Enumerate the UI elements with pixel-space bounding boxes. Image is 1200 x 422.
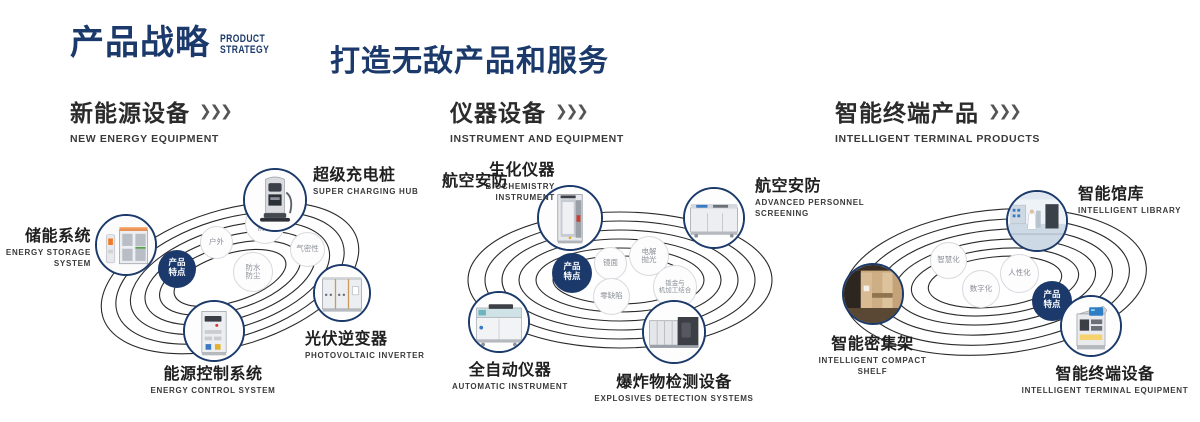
compact-shelf-icon bbox=[844, 265, 902, 323]
screening-machine-icon bbox=[685, 189, 743, 247]
feature-bubble-mirror-finish: 镜面 bbox=[594, 247, 627, 280]
page-title-en-line2: STRATEGY bbox=[220, 45, 269, 57]
node-bubble-automatic-instrument[interactable] bbox=[468, 291, 530, 353]
section-title-new-energy: 新能源设备 ❯❯❯ NEW ENERGY EQUIPMENT bbox=[70, 94, 231, 145]
node-label-terminal-equipment: 智能终端设备 INTELLIGENT TERMINAL EQUIPMENT bbox=[985, 360, 1200, 395]
feature-bubble-outdoor: 户外 bbox=[200, 226, 233, 259]
node-label-automatic-instrument: 全自动仪器 AUTOMATIC INSTRUMENT bbox=[400, 356, 620, 391]
section-title-en: INSTRUMENT AND EQUIPMENT bbox=[450, 133, 624, 145]
node-bubble-compact-shelf[interactable] bbox=[842, 263, 904, 325]
page-title-en-line1: PRODUCT bbox=[220, 34, 269, 46]
section-title-cn: 新能源设备 ❯❯❯ bbox=[70, 94, 231, 128]
section-title-cn: 仪器设备 ❯❯❯ bbox=[450, 94, 624, 128]
node-label-intelligent-library: 智能馆库 INTELLIGENT LIBRARY bbox=[1078, 180, 1200, 215]
node-bubble-explosives-detection[interactable] bbox=[642, 300, 706, 364]
chevron-right-icons: ❯❯❯ bbox=[555, 102, 587, 120]
section-title-cn: 智能终端产品 ❯❯❯ bbox=[835, 94, 1040, 128]
energy-storage-cabinet-icon bbox=[97, 216, 155, 274]
feature-bubble-human-centric: 人性化 bbox=[1000, 254, 1039, 293]
chevron-right-icons: ❯❯❯ bbox=[199, 102, 231, 120]
node-label-aviation-security-left: 航空安防 bbox=[398, 167, 508, 191]
section-title-en: INTELLIGENT TERMINAL PRODUCTS bbox=[835, 133, 1040, 145]
feature-bubble-zero-defect: 零缺陷 bbox=[593, 278, 630, 315]
feature-bubble-airtightness: 气密性 bbox=[290, 232, 325, 267]
node-label-energy-storage: 储能系统 ENERGY STORAGE SYSTEM bbox=[0, 222, 91, 268]
chevron-right-icons: ❯❯❯ bbox=[988, 102, 1020, 120]
node-label-energy-control: 能源控制系统 ENERGY CONTROL SYSTEM bbox=[103, 360, 323, 395]
control-rack-icon bbox=[185, 302, 243, 360]
node-bubble-personnel-screening[interactable] bbox=[683, 187, 745, 249]
cluster-intelligent-terminal: 智慧化 数字化 人性化 产品 特点 bbox=[810, 160, 1200, 390]
section-title-intelligent-terminal: 智能终端产品 ❯❯❯ INTELLIGENT TERMINAL PRODUCTS bbox=[835, 94, 1040, 145]
charging-pile-icon bbox=[245, 170, 305, 230]
automatic-analyzer-icon bbox=[470, 293, 528, 351]
feature-bubble-digital: 数字化 bbox=[962, 270, 1000, 308]
node-bubble-energy-storage[interactable] bbox=[95, 214, 157, 276]
page-title: 产品战略 PRODUCT STRATEGY bbox=[70, 26, 283, 60]
explosives-detector-icon bbox=[644, 302, 704, 362]
terminal-kiosk-icon bbox=[1062, 297, 1120, 355]
poster-canvas: 产品战略 PRODUCT STRATEGY 打造无敌产品和服务 新能源设备 ❯❯… bbox=[0, 0, 1200, 422]
core-bubble-product-features: 产品 特点 bbox=[552, 253, 592, 293]
cluster-new-energy: 产品 特点 户外 防腐 防锈 气密性 防水 防尘 bbox=[55, 160, 405, 390]
page-subtitle: 打造无敌产品和服务 bbox=[330, 36, 609, 80]
node-bubble-charging-hub[interactable] bbox=[243, 168, 307, 232]
library-interior-icon bbox=[1008, 192, 1066, 250]
node-bubble-energy-control[interactable] bbox=[183, 300, 245, 362]
page-title-en: PRODUCT STRATEGY bbox=[220, 34, 269, 57]
feature-bubble-intelligent: 智慧化 bbox=[930, 242, 967, 279]
node-bubble-terminal-equipment[interactable] bbox=[1060, 295, 1122, 357]
cluster-instrument: 产品 特点 镜面 电解 抛光 钣金与 机加工结合 零缺陷 bbox=[430, 160, 810, 390]
node-bubble-pv-inverter[interactable] bbox=[313, 264, 371, 322]
section-title-en: NEW ENERGY EQUIPMENT bbox=[70, 133, 231, 145]
section-title-instrument: 仪器设备 ❯❯❯ INSTRUMENT AND EQUIPMENT bbox=[450, 94, 624, 145]
node-label-compact-shelf: 智能密集架 INTELLIGENT COMPACT SHELF bbox=[765, 330, 980, 376]
core-bubble-product-features: 产品 特点 bbox=[158, 250, 196, 288]
node-bubble-intelligent-library[interactable] bbox=[1006, 190, 1068, 252]
pv-inverter-cabinet-icon bbox=[315, 266, 369, 320]
page-title-cn: 产品战略 bbox=[70, 26, 210, 60]
feature-bubble-waterproof: 防水 防尘 bbox=[233, 252, 273, 292]
